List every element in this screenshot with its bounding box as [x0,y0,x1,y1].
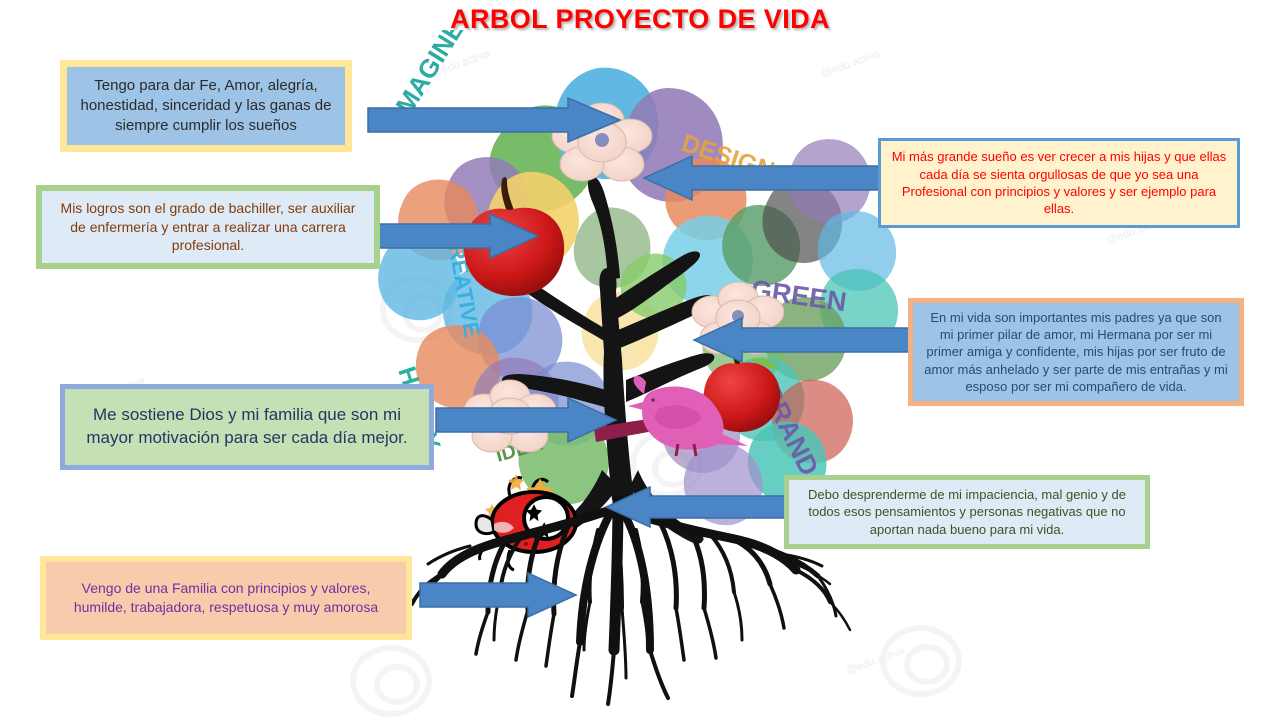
callout-give-text: Tengo para dar Fe, Amor, alegría, honest… [76,76,336,136]
callout-important-people[interactable]: En mi vida son importantes mis padres ya… [908,298,1244,406]
callout-let-go[interactable]: Debo desprenderme de mi impaciencia, mal… [784,475,1150,549]
arrow-right-achievements [378,214,538,258]
callout-let-go-text: Debo desprenderme de mi impaciencia, mal… [798,486,1136,538]
callout-important-people-text: En mi vida son importantes mis padres ya… [922,309,1230,395]
callout-family-origin[interactable]: Vengo de una Familia con principios y va… [40,556,412,640]
callout-dream-text: Mi más grande sueño es ver crecer a mis … [890,148,1228,217]
slide-canvas: ARBOL PROYECTO DE VIDA @edu.activa @edu.… [0,0,1280,720]
arrow-left-dream [644,156,884,200]
arrow-left-let-go [606,487,792,527]
callout-achievements-text: Mis logros son el grado de bachiller, se… [51,199,365,255]
callout-support-text: Me sostiene Dios y mi familia que son mi… [74,404,420,449]
arrow-right-give [368,98,620,142]
callout-family-origin-text: Vengo de una Familia con principios y va… [55,579,397,616]
arrow-left-important-people [694,318,912,362]
arrow-right-support [436,398,616,442]
arrow-right-family-origin [420,573,576,617]
callout-dream[interactable]: Mi más grande sueño es ver crecer a mis … [878,138,1240,228]
callout-achievements[interactable]: Mis logros son el grado de bachiller, se… [36,185,380,269]
callout-support[interactable]: Me sostiene Dios y mi familia que son mi… [60,384,434,470]
callout-give[interactable]: Tengo para dar Fe, Amor, alegría, honest… [60,60,352,152]
